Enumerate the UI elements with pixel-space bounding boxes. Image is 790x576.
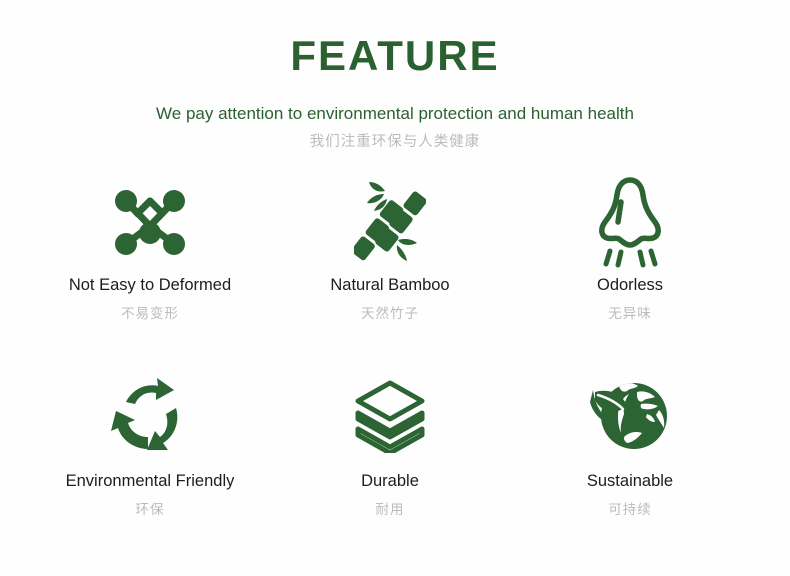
molecule-nodes-icon <box>112 174 188 270</box>
feature-item-not-easy-to-deformed: Not Easy to Deformed 不易变形 <box>30 174 270 370</box>
feature-label-en: Odorless <box>597 276 663 296</box>
subtitle-english: We pay attention to environmental protec… <box>0 104 790 124</box>
feature-item-odorless: Odorless 无异味 <box>510 174 750 370</box>
recycle-arrows-icon <box>110 370 190 462</box>
feature-label-cn: 可持续 <box>608 502 652 518</box>
feature-label-en: Environmental Friendly <box>66 472 235 492</box>
feature-item-sustainable: Sustainable 可持续 <box>510 370 750 566</box>
feature-item-natural-bamboo: Natural Bamboo 天然竹子 <box>270 174 510 370</box>
feature-label-cn: 不易变形 <box>121 306 179 322</box>
page-title: FEATURE <box>0 34 790 78</box>
globe-leaf-icon <box>589 370 671 462</box>
stacked-layers-icon <box>352 370 428 462</box>
feature-label-cn: 耐用 <box>376 502 405 518</box>
feature-label-en: Natural Bamboo <box>330 276 449 296</box>
feature-grid: Not Easy to Deformed 不易变形 <box>0 174 790 566</box>
feature-label-cn: 环保 <box>136 502 165 518</box>
nose-icon <box>593 174 667 270</box>
feature-item-environmental-friendly: Environmental Friendly 环保 <box>30 370 270 566</box>
feature-label-en: Sustainable <box>587 472 673 492</box>
subtitle-chinese: 我们注重环保与人类健康 <box>0 134 790 151</box>
feature-item-durable: Durable 耐用 <box>270 370 510 566</box>
feature-label-en: Not Easy to Deformed <box>69 276 231 296</box>
feature-section: FEATURE We pay attention to environmenta… <box>0 0 790 576</box>
feature-label-en: Durable <box>361 472 419 492</box>
section-header: FEATURE We pay attention to environmenta… <box>0 0 790 152</box>
feature-label-cn: 无异味 <box>608 306 652 322</box>
bamboo-stalks-icon <box>354 174 426 270</box>
feature-label-cn: 天然竹子 <box>361 306 419 322</box>
